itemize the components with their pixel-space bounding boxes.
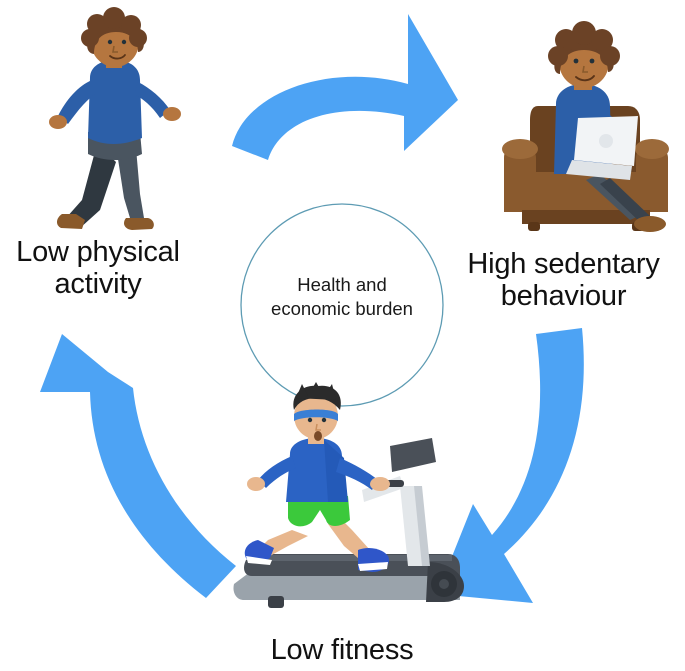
diagram-canvas: Health and economic burden [0, 0, 685, 671]
label-high-sedentary-behaviour: High sedentary behaviour [442, 248, 685, 313]
label-low-fitness: Low fitness [222, 634, 462, 666]
person-on-treadmill-icon [0, 0, 685, 671]
label-low-physical-activity: Low physical activity [0, 236, 196, 301]
